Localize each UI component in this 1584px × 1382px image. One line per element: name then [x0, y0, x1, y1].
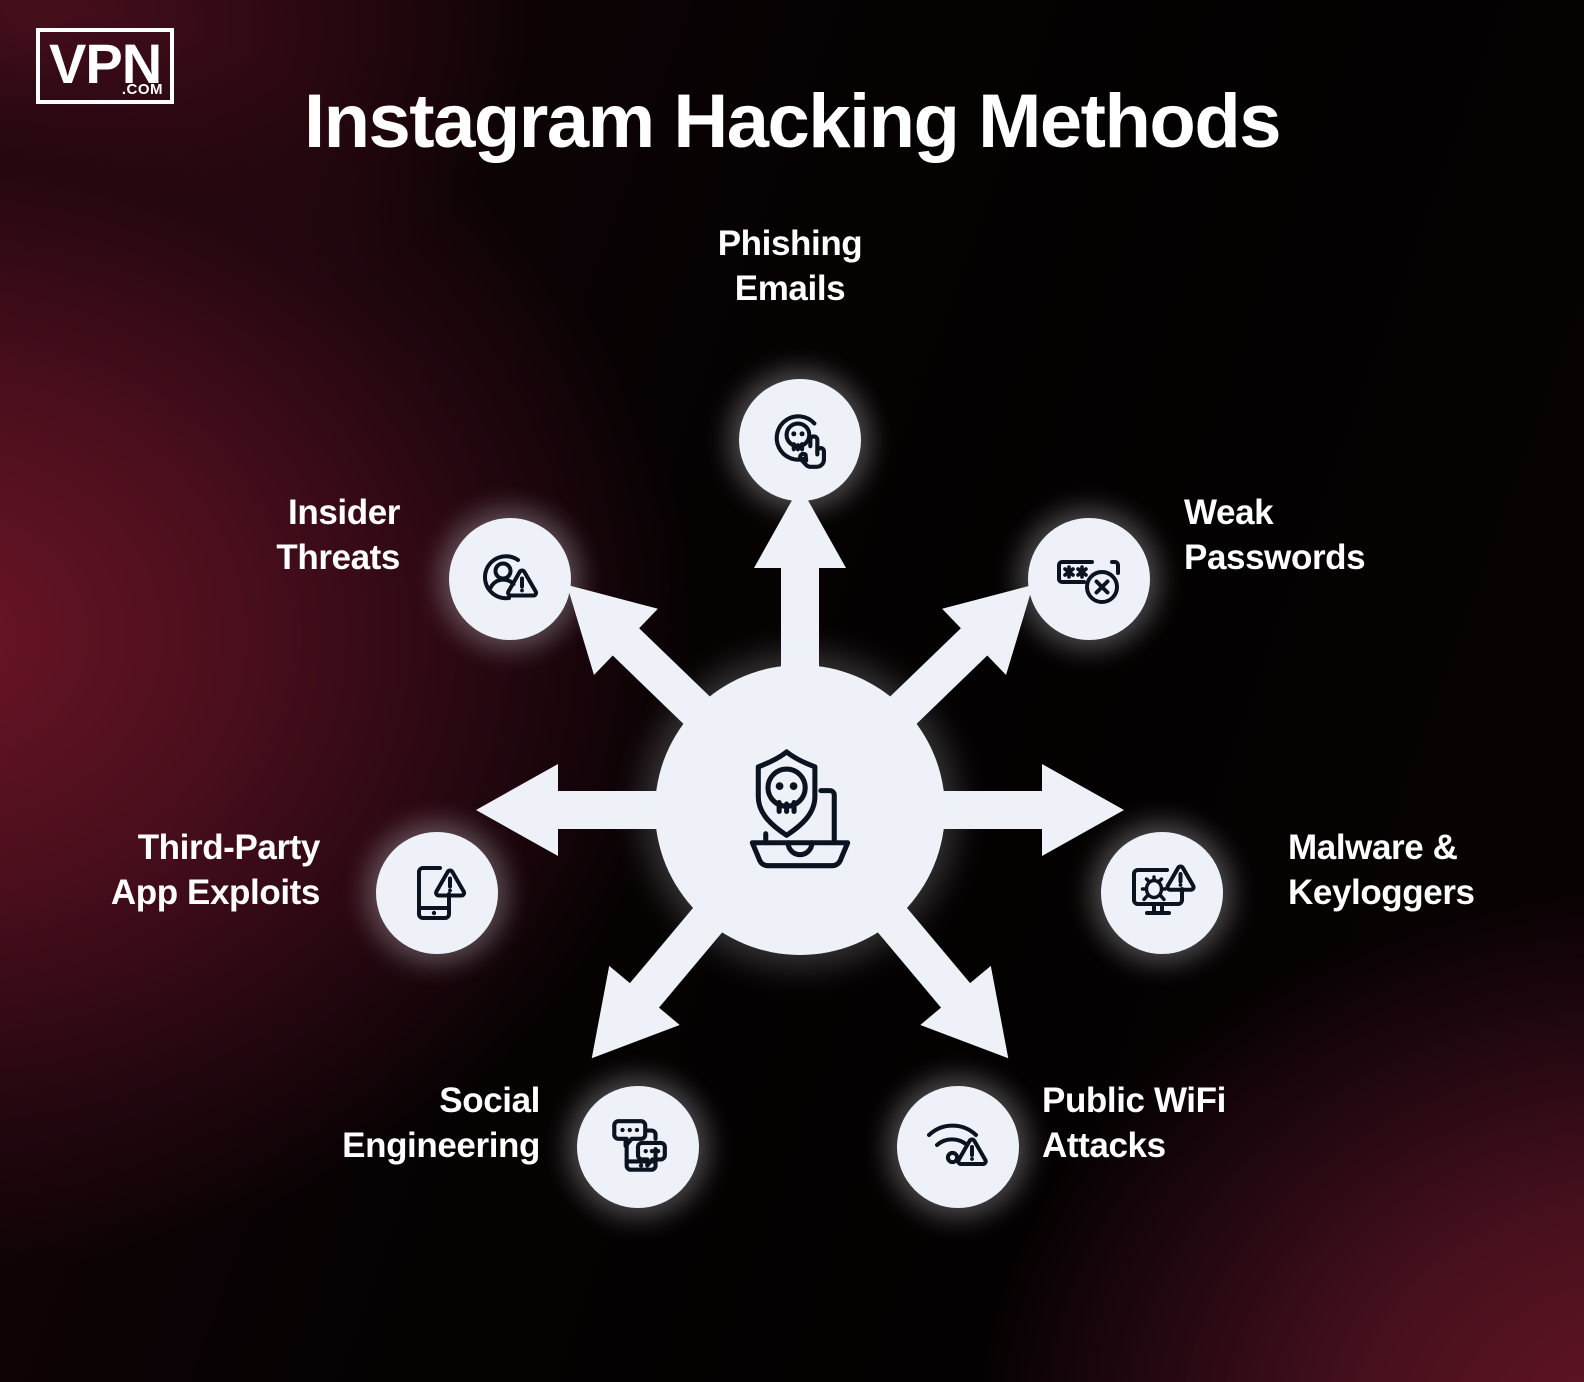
laptop-skull-shield-icon: [725, 740, 875, 880]
label-third-party-app-exploits: Third-Party App Exploits: [20, 826, 320, 916]
center-node[interactable]: [655, 665, 945, 955]
label-malware-keyloggers: Malware & Keyloggers: [1288, 826, 1584, 916]
password-field-error-icon: [1054, 550, 1124, 608]
label-insider-threats: Insider Threats: [130, 491, 400, 581]
node-third-party-app-exploits[interactable]: [376, 832, 498, 954]
node-public-wifi-attacks[interactable]: [897, 1086, 1019, 1208]
wifi-warning-icon: [924, 1116, 992, 1178]
phone-warning-icon: [406, 860, 468, 926]
node-malware-keyloggers[interactable]: [1101, 832, 1223, 954]
label-weak-passwords: Weak Passwords: [1184, 491, 1544, 581]
label-phishing-emails: Phishing Emails: [630, 222, 950, 312]
node-insider-threats[interactable]: [449, 518, 571, 640]
node-phishing-emails[interactable]: [739, 379, 861, 501]
monitor-bug-warning-icon: [1127, 861, 1197, 925]
node-weak-passwords[interactable]: [1028, 518, 1150, 640]
node-social-engineering[interactable]: [577, 1086, 699, 1208]
label-social-engineering: Social Engineering: [220, 1079, 540, 1169]
label-public-wifi-attacks: Public WiFi Attacks: [1042, 1079, 1372, 1169]
user-warning-icon: [477, 548, 543, 610]
phone-chat-bubbles-icon: [605, 1114, 671, 1180]
skull-cursor-click-icon: [767, 407, 833, 473]
infographic-canvas: VPN .COM Instagram Hacking Methods: [0, 0, 1584, 1382]
